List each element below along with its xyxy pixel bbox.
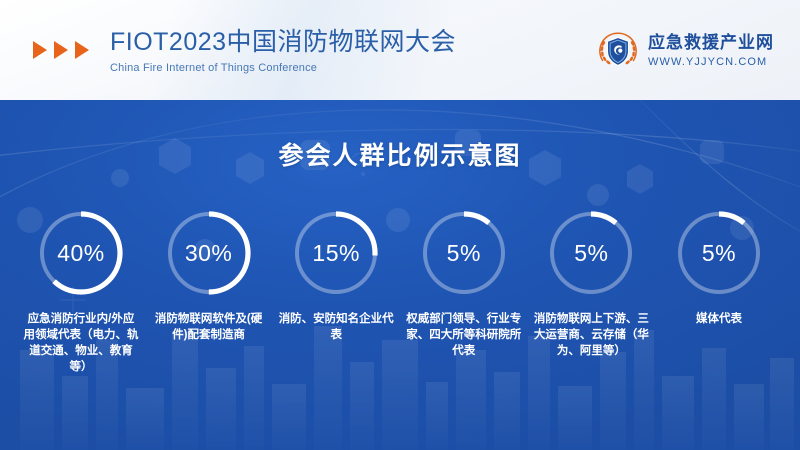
play-arrow-icon	[54, 41, 68, 59]
site-logo-text: 应急救援产业网 WWW.YJJYCN.COM	[648, 33, 774, 69]
play-arrow-icon	[33, 41, 47, 59]
ring-percent-label: 5%	[548, 210, 634, 296]
shield-laurel-logo-icon	[597, 30, 639, 72]
ring-caption: 权威部门领导、行业专家、四大所等科研院所代表	[406, 311, 522, 359]
ring-item: 5% 消防物联网上下游、三大运营商、云存储（华为、阿里等）	[532, 210, 650, 375]
ring-item: 30% 消防物联网软件及(硬件)配套制造商	[150, 210, 268, 375]
conference-title-block: FIOT2023中国消防物联网大会 China Fire Internet of…	[110, 27, 456, 76]
ring-caption: 媒体代表	[661, 311, 777, 327]
ring-item: 5% 权威部门领导、行业专家、四大所等科研院所代表	[405, 210, 523, 375]
ring-percent-label: 15%	[293, 210, 379, 296]
ring-item: 5% 媒体代表	[660, 210, 778, 375]
conference-title-cn: FIOT2023中国消防物联网大会	[110, 27, 456, 57]
ring-caption: 消防物联网上下游、三大运营商、云存储（华为、阿里等）	[533, 311, 649, 359]
ring-percent-label: 5%	[676, 210, 762, 296]
donut-ring-2: 30%	[166, 210, 252, 296]
ring-percent-label: 40%	[38, 210, 124, 296]
site-name-cn: 应急救援产业网	[648, 33, 774, 53]
ring-percent-label: 30%	[166, 210, 252, 296]
conference-title-en: China Fire Internet of Things Conference	[110, 60, 456, 76]
ring-item: 40% 应急消防行业内/外应用领域代表（电力、轨道交通、物业、教育等）	[22, 210, 140, 375]
page-title: 参会人群比例示意图	[0, 136, 800, 172]
donut-ring-3: 15%	[293, 210, 379, 296]
donut-ring-6: 5%	[676, 210, 762, 296]
triple-play-arrow-icon	[33, 41, 89, 59]
donut-ring-1: 40%	[38, 210, 124, 296]
site-logo[interactable]: 应急救援产业网 WWW.YJJYCN.COM	[597, 30, 774, 72]
ring-chart-row: 40% 应急消防行业内/外应用领域代表（电力、轨道交通、物业、教育等） 30% …	[0, 210, 800, 375]
presentation-slide: FIOT2023中国消防物联网大会 China Fire Internet of…	[0, 0, 800, 450]
ring-percent-label: 5%	[421, 210, 507, 296]
ring-caption: 消防、安防知名企业代表	[278, 311, 394, 343]
donut-ring-4: 5%	[421, 210, 507, 296]
play-arrow-icon	[75, 41, 89, 59]
site-url: WWW.YJJYCN.COM	[648, 55, 774, 69]
ring-caption: 应急消防行业内/外应用领域代表（电力、轨道交通、物业、教育等）	[23, 311, 139, 375]
donut-ring-5: 5%	[548, 210, 634, 296]
slide-header: FIOT2023中国消防物联网大会 China Fire Internet of…	[0, 0, 800, 100]
ring-caption: 消防物联网软件及(硬件)配套制造商	[151, 311, 267, 343]
ring-item: 15% 消防、安防知名企业代表	[277, 210, 395, 375]
slide-body: 参会人群比例示意图 40% 应急消防行业内/外应用领域代表（电力、轨道交通、物业…	[0, 100, 800, 450]
